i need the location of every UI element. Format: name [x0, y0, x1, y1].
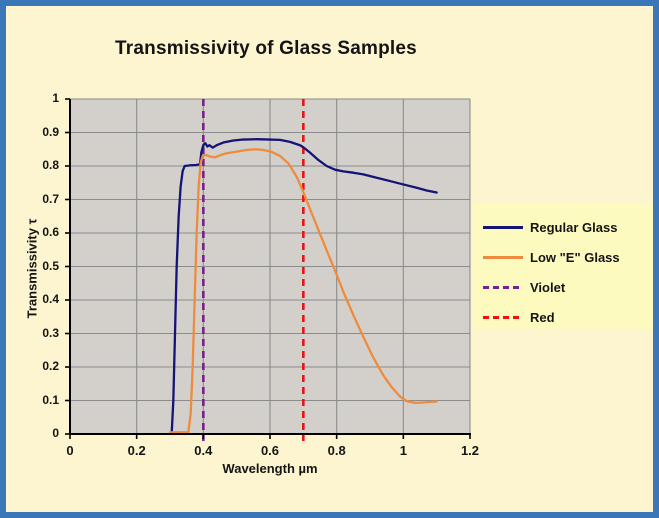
y-axis-tick-label: 0.1: [19, 393, 59, 407]
x-axis-tick-label: 1.2: [447, 443, 493, 458]
x-axis-tick-label: 0.2: [114, 443, 160, 458]
legend-item-violet[interactable]: Violet: [483, 278, 565, 296]
y-axis-tick-label: 1: [19, 91, 59, 105]
legend-item-red[interactable]: Red: [483, 308, 555, 326]
legend-item-label: Violet: [530, 280, 565, 295]
x-axis-tick-label: 0.6: [247, 443, 293, 458]
y-axis-tick-label: 0: [19, 426, 59, 440]
chart-legend: Regular GlassLow "E" GlassVioletRed: [473, 204, 653, 329]
legend-swatch-icon: [483, 286, 523, 289]
y-axis-tick-label: 0.8: [19, 158, 59, 172]
x-axis-tick-label: 0: [47, 443, 93, 458]
y-axis-tick-label: 0.9: [19, 125, 59, 139]
x-axis-tick-label: 0.8: [314, 443, 360, 458]
legend-item-label: Regular Glass: [530, 220, 617, 235]
legend-item-label: Red: [530, 310, 555, 325]
legend-item-low-e-glass[interactable]: Low "E" Glass: [483, 248, 620, 266]
x-axis-title: Wavelength µm: [70, 461, 470, 476]
chart-window: Transmissivity of Glass Samples 00.10.20…: [0, 0, 659, 518]
x-axis-tick-label: 0.4: [180, 443, 226, 458]
y-axis-title: Transmissivity τ: [25, 179, 40, 359]
legend-swatch-icon: [483, 256, 523, 259]
legend-item-label: Low "E" Glass: [530, 250, 620, 265]
x-axis-tick-label: 1: [380, 443, 426, 458]
legend-swatch-icon: [483, 316, 523, 319]
y-axis-tick-label: 0.2: [19, 359, 59, 373]
legend-item-regular-glass[interactable]: Regular Glass: [483, 218, 617, 236]
legend-swatch-icon: [483, 226, 523, 229]
